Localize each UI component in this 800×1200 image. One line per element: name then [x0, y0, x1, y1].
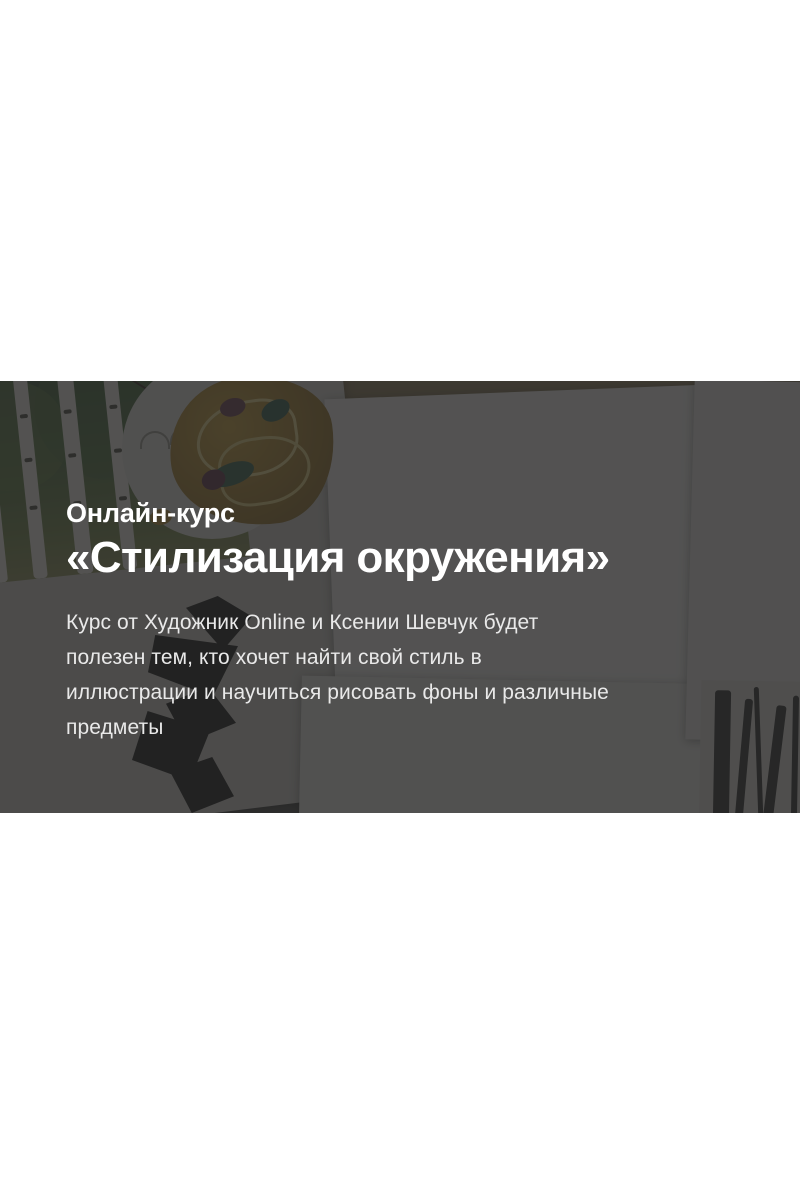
hero-eyebrow: Онлайн-курс: [66, 499, 726, 527]
page-root: 4 2 5 6: [0, 0, 800, 1200]
hero-description-line: Курс от Художник Online и Ксении Шевчук …: [66, 605, 691, 640]
hero-description-line: полезен тем, кто хочет найти свой стиль …: [66, 640, 691, 675]
page-title: «Стилизация окружения»: [66, 536, 726, 581]
hero-description-line: иллюстрации и научиться рисовать фоны и …: [66, 675, 691, 710]
hero-description-line: предметы: [66, 710, 691, 745]
hero-banner: 4 2 5 6: [0, 381, 800, 813]
hero-description: Курс от Художник Online и Ксении Шевчук …: [66, 605, 691, 745]
hero-copy: Онлайн-курс «Стилизация окружения» Курс …: [66, 499, 726, 745]
